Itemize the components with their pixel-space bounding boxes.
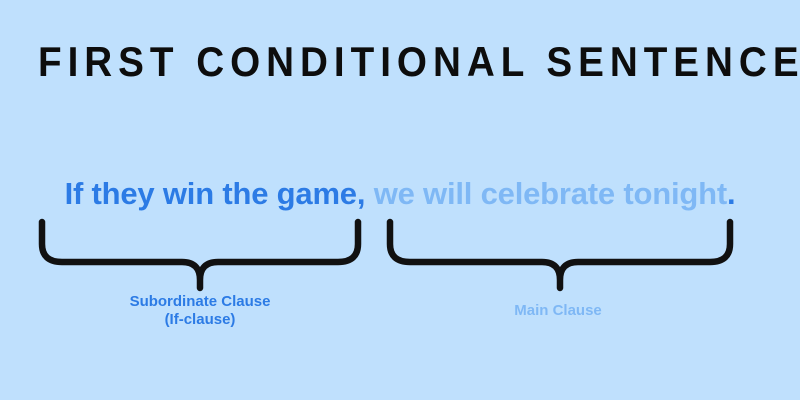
subordinate-clause-brace	[36, 218, 364, 296]
example-sentence: If they win the game, we will celebrate …	[0, 174, 800, 214]
sentence-period: .	[727, 176, 735, 211]
subordinate-clause-text: If they win the game,	[65, 176, 366, 211]
slide-canvas: FIRST CONDITIONAL SENTENCE If they win t…	[0, 0, 800, 400]
sentence-space	[365, 176, 373, 211]
brace-shape-icon	[384, 218, 736, 296]
main-clause-text: we will celebrate tonight	[374, 176, 727, 211]
main-clause-label: Main Clause	[418, 302, 698, 320]
brace-shape-icon	[36, 218, 364, 296]
main-clause-brace	[384, 218, 736, 296]
page-title: FIRST CONDITIONAL SENTENCE	[32, 38, 768, 86]
subordinate-clause-label: Subordinate Clause (If-clause)	[60, 293, 340, 329]
